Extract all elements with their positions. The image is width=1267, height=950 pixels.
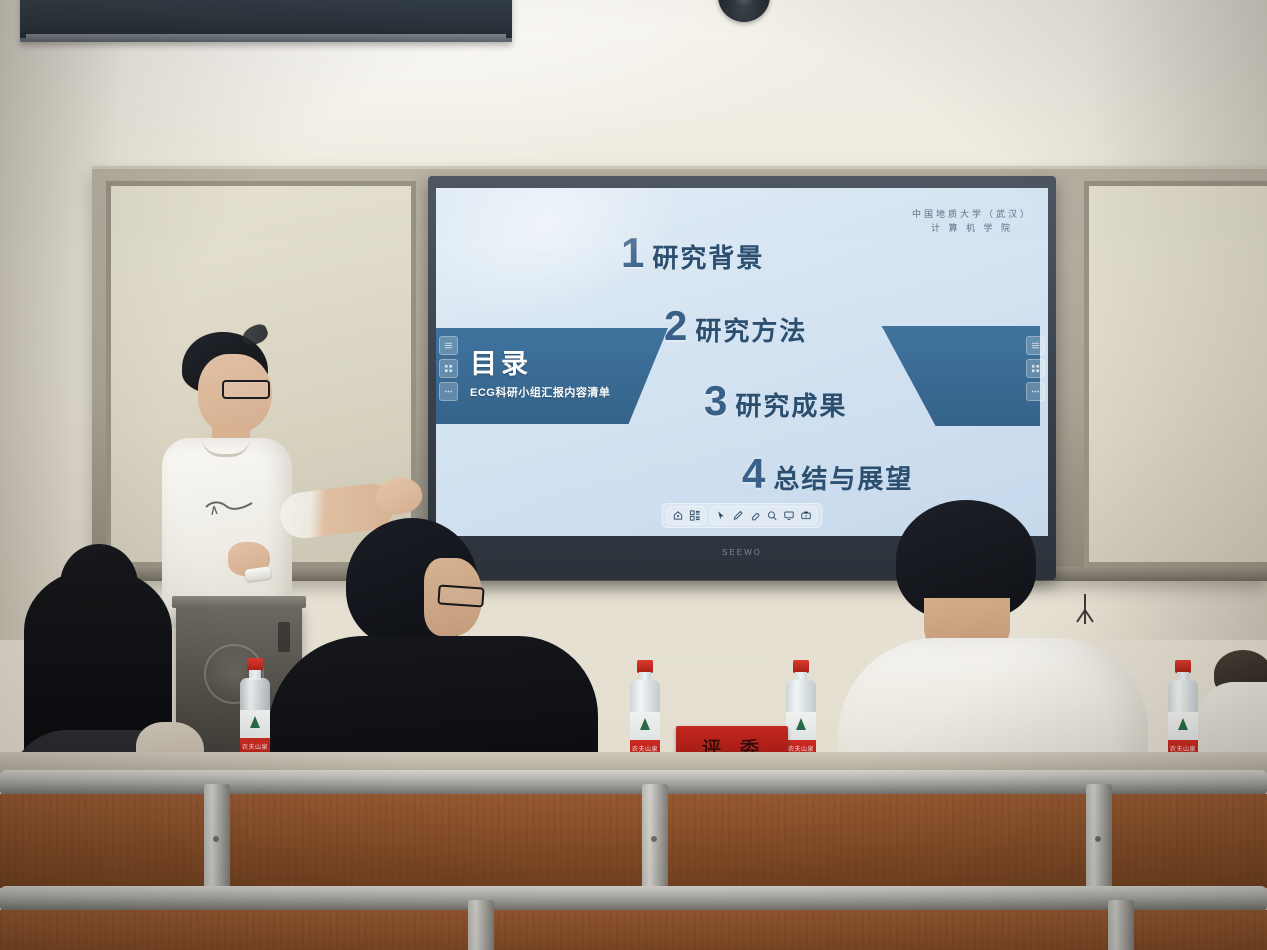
bench-post [204, 784, 230, 896]
toc-text-4: 总结与展望 [773, 459, 913, 496]
audience-member-1 [8, 544, 188, 776]
audience-member-3 [838, 500, 1148, 780]
toolbar-group-left[interactable] [667, 506, 707, 525]
audience-member-2 [268, 518, 598, 780]
glasses-icon [222, 380, 270, 399]
bench-post [642, 784, 668, 896]
glasses-icon [437, 584, 484, 607]
home-icon[interactable] [671, 508, 686, 523]
menu-icon[interactable] [1026, 336, 1045, 355]
bench-post [468, 900, 494, 950]
pen-icon[interactable] [731, 508, 746, 523]
eraser-icon[interactable] [748, 508, 763, 523]
toc-item-2: 2 研究方法 [664, 305, 807, 348]
toc-text-3: 研究成果 [735, 386, 847, 423]
apps-icon[interactable] [1026, 359, 1045, 378]
toc-text-2: 研究方法 [695, 311, 807, 348]
magnifier-icon[interactable] [765, 508, 780, 523]
display-floating-toolbar[interactable] [662, 503, 823, 528]
bench-wood-panel [0, 794, 1267, 890]
toolbar-group-right[interactable] [710, 506, 818, 525]
screen-icon[interactable] [782, 508, 797, 523]
toolbox-icon[interactable] [799, 508, 814, 523]
bottle-brand-text: 农夫山泉 [238, 742, 272, 751]
toc-item-4: 4 总结与展望 [742, 453, 913, 496]
slide-toc-list: 1 研究背景 2 研究方法 3 研究成果 4 总结与展望 [436, 188, 1048, 536]
bench-post [1086, 784, 1112, 896]
mountain-icon [250, 716, 260, 728]
shirt-graphic [202, 495, 256, 517]
mountain-icon [796, 718, 806, 730]
toc-item-3: 3 研究成果 [704, 380, 847, 423]
display-screen[interactable]: 中国地质大学（武汉） 计 算 机 学 院 目录 ECG科研小组汇报内容清单 1 … [436, 188, 1048, 536]
presenter-ear [200, 384, 214, 402]
more-icon[interactable] [1026, 382, 1045, 401]
toc-number-2: 2 [664, 305, 687, 347]
lecture-hall-photo: 中国地质大学（武汉） 计 算 机 学 院 目录 ECG科研小组汇报内容清单 1 … [0, 0, 1267, 950]
water-bottle: 农夫山泉 [238, 658, 272, 766]
cursor-icon[interactable] [714, 508, 729, 523]
toc-number-1: 1 [621, 232, 644, 274]
ceiling-duct-lip [26, 34, 506, 42]
bench-rail [0, 886, 1267, 912]
apps-icon[interactable] [439, 359, 458, 378]
screen-side-rail-left[interactable] [439, 336, 458, 401]
bench-post [1108, 900, 1134, 950]
menu-icon[interactable] [439, 336, 458, 355]
mountain-icon [1178, 718, 1188, 730]
display-brand-label: SEEWO [722, 548, 762, 557]
toc-item-1: 1 研究背景 [621, 232, 764, 275]
more-icon[interactable] [439, 382, 458, 401]
apps-grid-icon[interactable] [688, 508, 703, 523]
toc-text-1: 研究背景 [652, 238, 764, 275]
mountain-icon [640, 718, 650, 730]
screen-side-rail-right[interactable] [1026, 336, 1045, 401]
toc-number-4: 4 [742, 453, 765, 495]
bench-wood-panel [0, 910, 1267, 950]
toc-number-3: 3 [704, 380, 727, 422]
bench-rail [0, 770, 1267, 796]
